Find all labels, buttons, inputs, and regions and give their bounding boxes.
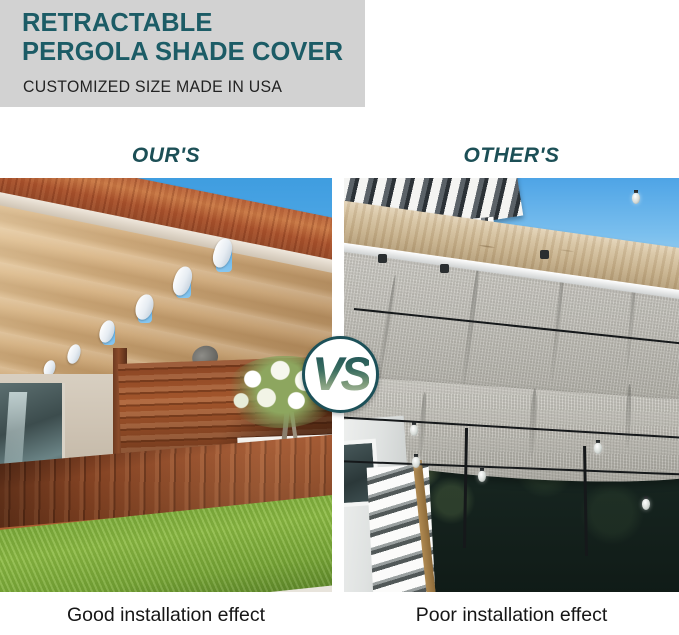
label-others: OTHER'S	[344, 144, 679, 168]
header-subtitle: CUSTOMIZED SIZE MADE IN USA	[23, 78, 351, 97]
light-bulb	[594, 440, 602, 454]
photo-poor-installation	[344, 178, 679, 592]
mesh-clamp	[540, 250, 549, 259]
mesh-clamp	[378, 254, 387, 263]
light-bulb	[410, 422, 418, 436]
page-title: RETRACTABLE PERGOLA SHADE COVER	[22, 9, 365, 67]
caption-poor-installation: Poor installation effect	[344, 604, 679, 627]
light-bulb	[632, 190, 640, 204]
photo-good-installation	[0, 178, 332, 592]
light-bulb	[478, 468, 486, 482]
caption-good-installation: Good installation effect	[0, 604, 332, 627]
light-bulb	[412, 454, 420, 468]
header-banner: RETRACTABLE PERGOLA SHADE COVER CUSTOMIZ…	[0, 0, 365, 107]
light-bulb	[642, 496, 650, 510]
vs-label: VS	[312, 350, 369, 397]
label-ours: OUR'S	[0, 144, 332, 168]
mesh-clamp	[440, 264, 449, 273]
vs-badge: VS	[302, 336, 379, 413]
